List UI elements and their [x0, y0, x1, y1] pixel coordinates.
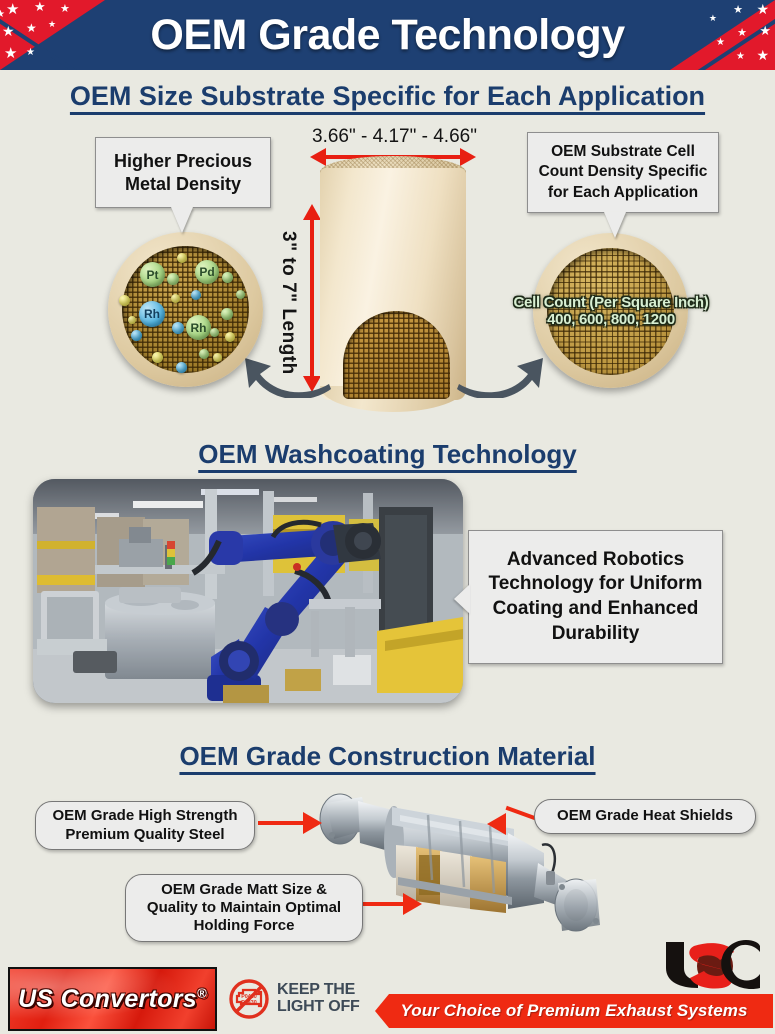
callout-tail-icon: [171, 207, 193, 233]
brand-name: US Convertors®: [18, 985, 207, 1014]
page-title: OEM Grade Technology: [0, 0, 775, 70]
tagline-text: Your Choice of Premium Exhaust Systems: [400, 1001, 747, 1021]
dimension-width-label: 3.66" - 4.17" - 4.66": [312, 126, 477, 148]
heading-washcoating: OEM Washcoating Technology: [0, 439, 775, 470]
cell-count-values: 400, 600, 800, 1200: [497, 312, 725, 329]
particle-pd: Pd: [195, 260, 219, 284]
particle-dot: [236, 290, 245, 299]
infographic-page: ★ ★ ★ ★ ★ ★ ★ ★ ★ OEM Grade Technology ★…: [0, 0, 775, 1034]
particle-dot: [176, 362, 187, 373]
callout-advanced-robotics: Advanced Robotics Technology for Uniform…: [468, 530, 723, 664]
cell-count-title: Cell Count (Per Square Inch): [497, 295, 725, 312]
callout-tail-icon: [604, 212, 626, 238]
particle-rh-green: Rh: [186, 315, 211, 340]
particle-dot: [221, 308, 233, 320]
particle-dot: [222, 272, 233, 283]
usc-logo: [660, 938, 765, 990]
arrowhead-up-icon: [303, 204, 321, 220]
callout-cell-count-density: OEM Substrate Cell Count Density Specifi…: [527, 132, 719, 213]
callout-premium-steel: OEM Grade High Strength Premium Quality …: [35, 801, 255, 850]
particle-dot: [199, 349, 209, 359]
pointer-arrow-right-icon: [455, 318, 545, 398]
registered-mark: ®: [197, 985, 207, 1000]
tagline-banner: Your Choice of Premium Exhaust Systems: [375, 994, 773, 1028]
brand-text: US Convertors: [18, 985, 197, 1013]
keep-light-line1: KEEP THE: [277, 982, 360, 999]
keep-light-line2: LIGHT OFF: [277, 999, 360, 1016]
particle-rh-blue: Rh: [139, 301, 165, 327]
particle-dot: [172, 322, 184, 334]
particle-dot: [131, 330, 142, 341]
callout-heat-shields: OEM Grade Heat Shields: [534, 799, 756, 834]
particle-dot: [167, 273, 179, 285]
particle-dot: [213, 353, 222, 362]
particle-dot: [210, 328, 219, 337]
particle-pt: Pt: [140, 262, 165, 287]
particle-dot: [177, 253, 187, 263]
no-check-engine-icon: P0420 P0430: [228, 978, 270, 1020]
callout-precious-metal-density: Higher Precious Metal Density: [95, 137, 271, 208]
brand-badge[interactable]: US Convertors®: [8, 967, 217, 1031]
particle-dot: [191, 290, 201, 300]
particle-dot: [225, 332, 235, 342]
particle-dot: [171, 294, 180, 303]
cell-count-overlay: Cell Count (Per Square Inch) 400, 600, 8…: [497, 295, 725, 329]
page-header: ★ ★ ★ ★ ★ ★ ★ ★ ★ OEM Grade Technology ★…: [0, 0, 775, 70]
callout-matt-size: OEM Grade Matt Size & Quality to Maintai…: [125, 874, 363, 942]
arrowhead-left-icon: [487, 813, 506, 835]
particle-dot: [128, 316, 136, 324]
callout-tail-icon: [454, 584, 470, 614]
particle-dot: [152, 352, 163, 363]
keep-light-off-text: KEEP THE LIGHT OFF: [277, 982, 360, 1015]
arrowhead-right-icon: [403, 893, 422, 915]
arrow-steel: [258, 821, 306, 825]
arrow-matt: [358, 902, 406, 906]
arrowhead-right-icon: [303, 812, 322, 834]
heading-substrate: OEM Size Substrate Specific for Each App…: [0, 81, 775, 112]
keep-light-off-badge: P0420 P0430 KEEP THE LIGHT OFF: [228, 974, 363, 1024]
heading-construction: OEM Grade Construction Material: [0, 741, 775, 772]
robotics-photo: [33, 479, 463, 703]
particle-dot: [119, 295, 130, 306]
